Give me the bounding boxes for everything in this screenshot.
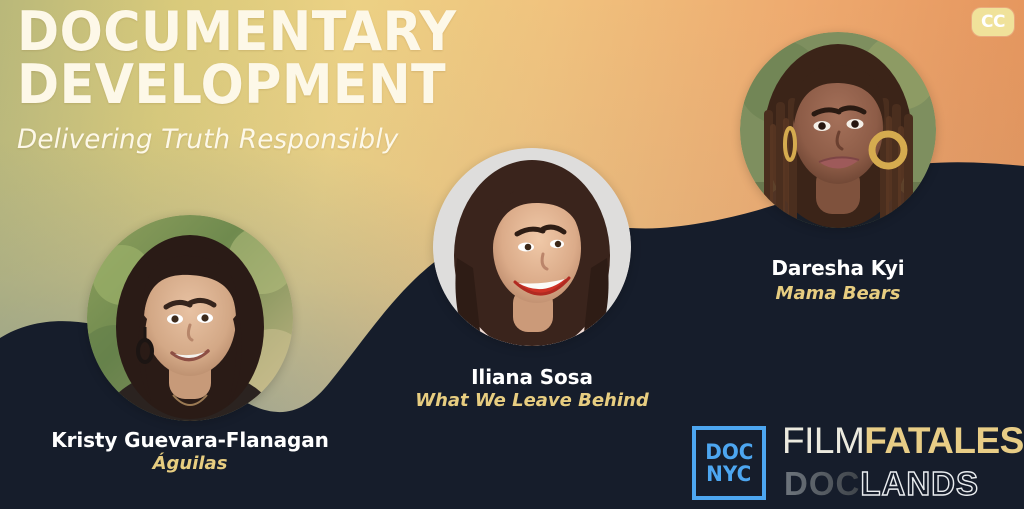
speaker-film-iliana: What We Leave Behind (352, 390, 712, 411)
logo-bar: DOC NYC FILMFATALES DOCLANDS (688, 420, 1018, 506)
film-fatales-logo[interactable]: FILMFATALES (782, 422, 1024, 459)
closed-captions-label: CC (981, 14, 1005, 31)
kristy-guevara-flanagan-portrait (87, 215, 293, 421)
iliana-sosa-portrait (433, 148, 631, 346)
docnyc-line-2: NYC (706, 463, 751, 485)
speaker-film-kristy: Águilas (10, 453, 370, 474)
portrait-image-kristy (87, 215, 293, 421)
title-line-1: DOCUMENTARY (17, 6, 543, 59)
film-fatales-part-2: FATALES (864, 420, 1024, 461)
portrait-image-daresha (740, 32, 936, 228)
daresha-kyi-portrait (740, 32, 936, 228)
title-block: DOCUMENTARY DEVELOPMENT Delivering Truth… (17, 6, 577, 155)
closed-captions-badge[interactable]: CC (972, 8, 1014, 36)
speaker-name-daresha: Daresha Kyi (658, 256, 1018, 280)
speaker-name-iliana: Iliana Sosa (352, 365, 712, 389)
doclands-logo[interactable]: DOCLANDS (784, 467, 979, 500)
presentation-slide: CC DOCUMENTARY DEVELOPMENT Delivering Tr… (0, 0, 1024, 509)
portrait-image-iliana (433, 148, 631, 346)
speaker-name-kristy: Kristy Guevara-Flanagan (10, 428, 370, 452)
speaker-film-daresha: Mama Bears (658, 283, 1018, 304)
film-fatales-part-1: FILM (782, 420, 864, 461)
docnyc-line-1: DOC (705, 441, 753, 463)
docnyc-logo[interactable]: DOC NYC (692, 426, 766, 500)
title-line-2: DEVELOPMENT (17, 59, 543, 112)
doclands-part-2: LANDS (860, 465, 979, 502)
doclands-part-1: DOC (784, 465, 860, 502)
subtitle: Delivering Truth Responsibly (17, 124, 560, 155)
